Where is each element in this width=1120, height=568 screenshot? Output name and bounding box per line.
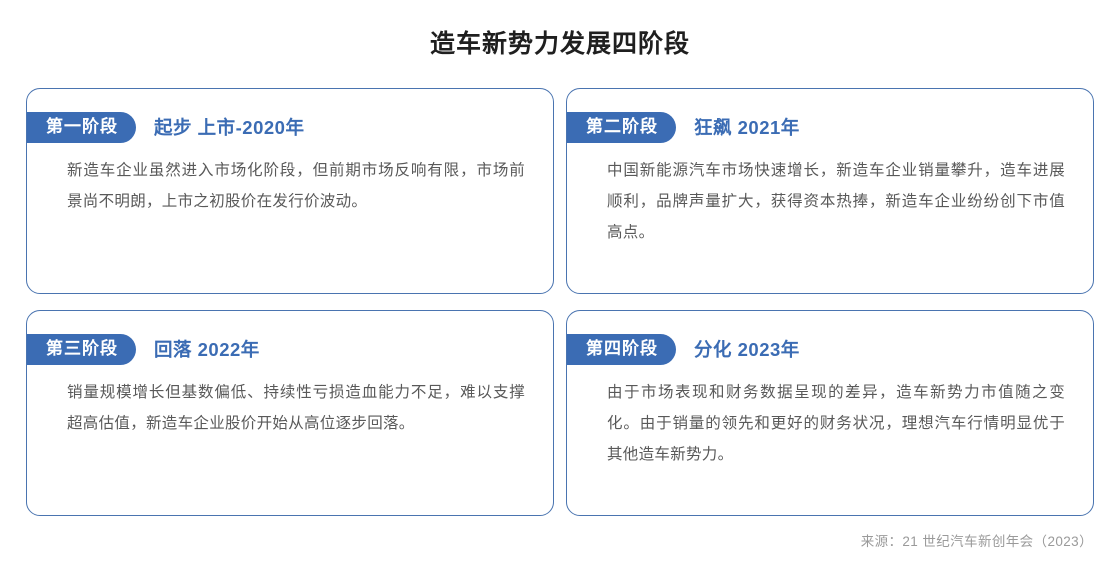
stage-card-4-header: 第四阶段 分化 2023年 [567, 334, 800, 365]
stage-card-1: 第一阶段 起步 上市-2020年 新造车企业虽然进入市场化阶段，但前期市场反响有… [26, 88, 554, 294]
stages-grid: 第一阶段 起步 上市-2020年 新造车企业虽然进入市场化阶段，但前期市场反响有… [26, 88, 1094, 516]
stage-card-3-header: 第三阶段 回落 2022年 [27, 334, 260, 365]
stage-card-3: 第三阶段 回落 2022年 销量规模增长但基数偏低、持续性亏损造血能力不足，难以… [26, 310, 554, 516]
stage-card-4: 第四阶段 分化 2023年 由于市场表现和财务数据呈现的差异，造车新势力市值随之… [566, 310, 1094, 516]
page-title: 造车新势力发展四阶段 [0, 24, 1120, 60]
stage-badge-1: 第一阶段 [27, 112, 136, 143]
stage-body-4: 由于市场表现和财务数据呈现的差异，造车新势力市值随之变化。由于销量的领先和更好的… [607, 377, 1065, 470]
stage-body-1: 新造车企业虽然进入市场化阶段，但前期市场反响有限，市场前景尚不明朗，上市之初股价… [67, 155, 525, 217]
stage-badge-2: 第二阶段 [567, 112, 676, 143]
stage-title-4: 分化 2023年 [694, 336, 800, 362]
stage-card-1-header: 第一阶段 起步 上市-2020年 [27, 112, 304, 143]
stage-card-2-header: 第二阶段 狂飙 2021年 [567, 112, 800, 143]
stage-body-3: 销量规模增长但基数偏低、持续性亏损造血能力不足，难以支撑超高估值，新造车企业股价… [67, 377, 525, 439]
stage-title-2: 狂飙 2021年 [694, 114, 800, 140]
stage-badge-3: 第三阶段 [27, 334, 136, 365]
stage-title-1: 起步 上市-2020年 [154, 114, 304, 140]
stage-title-3: 回落 2022年 [154, 336, 260, 362]
source-note: 来源：21 世纪汽车新创年会（2023） [861, 530, 1093, 550]
stage-badge-4: 第四阶段 [567, 334, 676, 365]
stage-card-2: 第二阶段 狂飙 2021年 中国新能源汽车市场快速增长，新造车企业销量攀升，造车… [566, 88, 1094, 294]
stage-body-2: 中国新能源汽车市场快速增长，新造车企业销量攀升，造车进展顺利，品牌声量扩大，获得… [607, 155, 1065, 248]
